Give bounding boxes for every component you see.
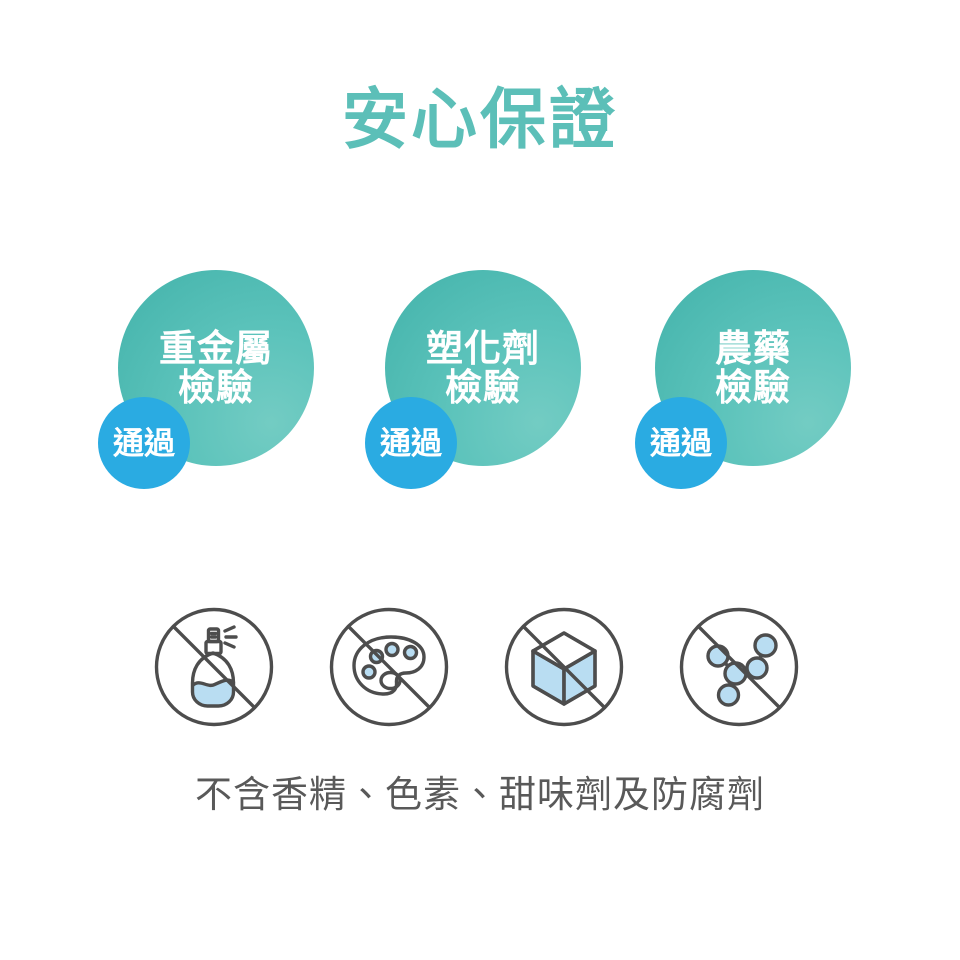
no-molecule-icon [678, 606, 800, 728]
guarantee-infographic: 安心保證 重金屬 檢驗 通過 塑化劑 檢驗 通過 農藥 檢驗 [0, 0, 960, 960]
pass-badge-heavy-metal: 通過 [98, 397, 190, 489]
pass-badge-pesticide: 通過 [635, 397, 727, 489]
pass-badge-label: 通過 [113, 428, 175, 459]
test-label-line2: 檢驗 [445, 365, 521, 410]
test-badges-row: 重金屬 檢驗 通過 塑化劑 檢驗 通過 農藥 檢驗 通過 [0, 262, 960, 502]
pass-badge-plasticizer: 通過 [365, 397, 457, 489]
test-group-pesticide: 農藥 檢驗 通過 [617, 262, 867, 502]
pass-badge-label: 通過 [380, 428, 442, 459]
free-from-icons-row [0, 606, 960, 736]
free-from-caption: 不含香精、色素、甜味劑及防腐劑 [0, 772, 960, 818]
no-sugar-cube-icon [503, 606, 625, 728]
test-group-heavy-metal: 重金屬 檢驗 通過 [80, 262, 330, 502]
test-label-line2: 檢驗 [715, 365, 791, 410]
test-group-plasticizer: 塑化劑 檢驗 通過 [347, 262, 597, 502]
no-paint-palette-icon [328, 606, 450, 728]
pass-badge-label: 通過 [650, 428, 712, 459]
page-title: 安心保證 [0, 86, 960, 152]
no-fragrance-bottle-icon [153, 606, 275, 728]
test-label-line2: 檢驗 [178, 365, 254, 410]
